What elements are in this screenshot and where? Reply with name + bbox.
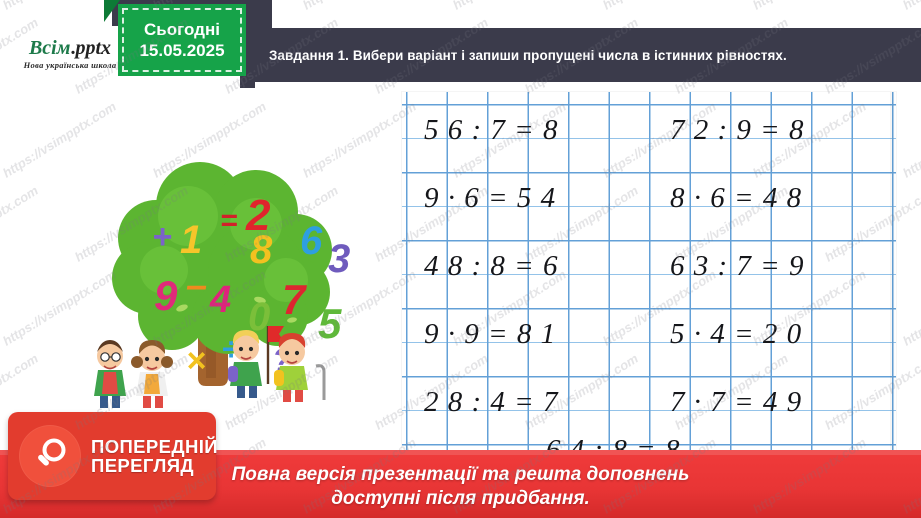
svg-text:5: 5 [318, 300, 342, 347]
brand-prefix: Всім [29, 37, 70, 59]
equation-right-1: 7 2 : 9 = 8 [670, 114, 804, 147]
watermark-text: https://vsimpptx.com [450, 0, 569, 13]
equation-right-5: 7 · 7 = 4 9 [670, 386, 802, 419]
svg-text:+: + [152, 218, 172, 256]
date-badge-label: Сьогодні [144, 19, 220, 40]
bottom-banner-line2: доступні після придбання. [331, 487, 590, 511]
brand-suffix: pptx [75, 37, 111, 59]
equation-right-3: 6 3 : 7 = 9 [670, 250, 804, 283]
svg-text:7: 7 [282, 276, 307, 323]
watermark-text: https://vsimpptx.com [600, 0, 719, 13]
task-header-title: Завдання 1. Вибери варіант і запиши проп… [255, 48, 787, 63]
svg-text:×: × [186, 342, 206, 380]
svg-text:–: – [186, 265, 207, 307]
equation-left-4: 9 · 9 = 8 1 [424, 318, 556, 351]
slide-canvas: Завдання 1. Вибери варіант і запиши проп… [0, 0, 921, 518]
svg-text:1: 1 [180, 218, 202, 262]
watermark-text: https://vsimpptx.com [900, 0, 921, 13]
equation-right-4: 5 · 4 = 2 0 [670, 318, 802, 351]
watermark-text: https://vsimpptx.com [900, 267, 921, 349]
watermark-text: https://vsimpptx.com [300, 0, 419, 13]
worksheet-grid-paper: 5 6 : 7 = 8 9 · 6 = 5 4 4 8 : 8 = 6 9 · … [402, 92, 896, 478]
preview-icon-circle [19, 425, 81, 487]
watermark-text: https://vsimpptx.com [0, 183, 41, 265]
preview-badge-line2: ПЕРЕГЛЯД [91, 456, 218, 475]
bottom-banner-line1: Повна версія презентації та решта доповн… [232, 463, 690, 487]
preview-badge: ПОПЕРЕДНІЙ ПЕРЕГЛЯД [8, 412, 216, 500]
equations-layer: 5 6 : 7 = 8 9 · 6 = 5 4 4 8 : 8 = 6 9 · … [402, 92, 896, 478]
svg-text:=: = [220, 204, 238, 237]
brand-subtitle: Нова українська школа [24, 60, 117, 70]
task-header-bar: Завдання 1. Вибери варіант і запиши проп… [255, 28, 921, 82]
equation-right-2: 8 · 6 = 4 8 [670, 182, 802, 215]
watermark-text: https://vsimpptx.com [0, 0, 119, 13]
svg-text:8: 8 [250, 228, 273, 272]
equation-left-5: 2 8 : 4 = 7 [424, 386, 558, 419]
preview-badge-line1: ПОПЕРЕДНІЙ [91, 437, 218, 456]
math-tree-illustration: + 1 = 2 8 6 3 9 – 4 0 7 5 × ÷ ? [60, 120, 360, 410]
date-badge-date: 15.05.2025 [139, 40, 224, 61]
watermark-text: https://vsimpptx.com [750, 0, 869, 13]
magnifier-icon [30, 436, 70, 476]
preview-badge-text: ПОПЕРЕДНІЙ ПЕРЕГЛЯД [91, 437, 218, 475]
equation-left-2: 9 · 6 = 5 4 [424, 182, 556, 215]
equation-left-3: 4 8 : 8 = 6 [424, 250, 558, 283]
header-underline [255, 82, 921, 88]
svg-text:3: 3 [328, 237, 350, 281]
equation-left-1: 5 6 : 7 = 8 [424, 114, 558, 147]
watermark-text: https://vsimpptx.com [900, 99, 921, 181]
svg-text:4: 4 [209, 279, 231, 321]
svg-text:9: 9 [154, 272, 178, 319]
brand-logo-text: Всім.pptx [29, 38, 111, 58]
date-badge: Сьогодні 15.05.2025 [118, 4, 246, 76]
svg-text:6: 6 [300, 219, 323, 263]
